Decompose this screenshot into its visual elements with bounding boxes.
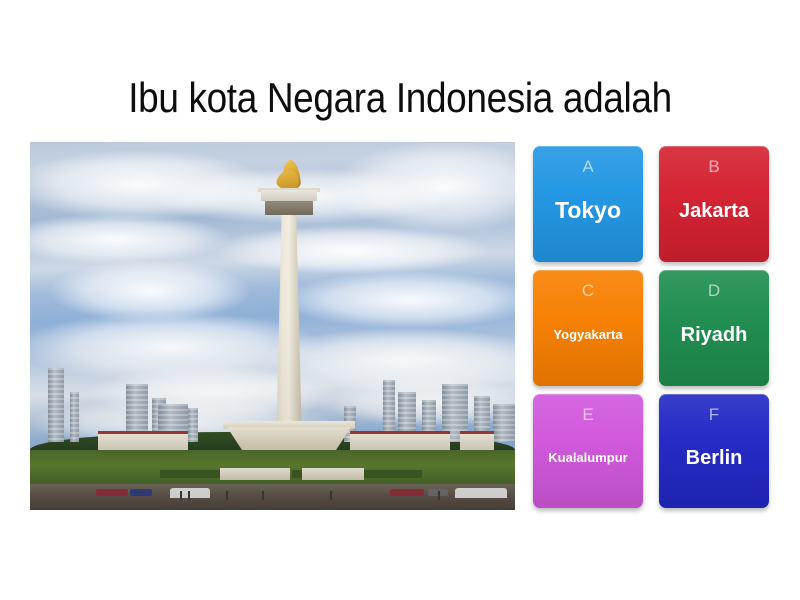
page-title: Ibu kota Negara Indonesia adalah <box>48 72 752 124</box>
pedestrian <box>188 491 190 500</box>
answer-card-d[interactable]: D Riyadh <box>659 270 769 386</box>
answer-text-c: Yogyakarta <box>548 300 627 370</box>
answer-text-e: Kualalumpur <box>543 424 632 492</box>
white-tent <box>455 488 507 498</box>
answer-text-b: Jakarta <box>674 176 754 246</box>
parked-vehicle <box>390 489 424 496</box>
answer-card-a[interactable]: A Tokyo <box>533 146 643 262</box>
pedestrian <box>438 491 440 500</box>
answer-letter-f: F <box>709 406 719 424</box>
answer-card-f[interactable]: F Berlin <box>659 394 769 508</box>
pedestrian <box>226 491 228 500</box>
answer-text-d: Riyadh <box>676 300 753 370</box>
quiz-slide: Ibu kota Negara Indonesia adalah <box>0 0 800 600</box>
pavilion <box>350 431 450 452</box>
white-tent <box>170 488 210 498</box>
skyline-building <box>70 392 79 442</box>
skyline-building <box>48 368 64 442</box>
pavilion <box>460 431 494 452</box>
answer-letter-b: B <box>708 158 719 176</box>
answer-card-e[interactable]: E Kualalumpur <box>533 394 643 508</box>
skyline-building <box>188 408 198 442</box>
answer-letter-c: C <box>582 282 594 300</box>
pedestrian <box>180 491 182 500</box>
cloud-shape <box>210 226 490 274</box>
pavilion <box>98 431 188 452</box>
plaza-ground <box>30 484 515 510</box>
answer-letter-e: E <box>582 406 593 424</box>
pedestrian <box>330 491 332 500</box>
plaza-wall <box>302 468 364 480</box>
answer-options-grid: A Tokyo B Jakarta C Yogyakarta D Riyadh … <box>533 146 769 506</box>
answer-card-c[interactable]: C Yogyakarta <box>533 270 643 386</box>
plaza-wall <box>220 468 290 480</box>
answer-letter-a: A <box>582 158 593 176</box>
pedestrian <box>262 491 264 500</box>
monas-cap <box>261 190 317 201</box>
parked-vehicle <box>130 489 152 496</box>
question-image <box>30 142 515 510</box>
answer-letter-d: D <box>708 282 720 300</box>
parked-vehicle <box>96 489 128 496</box>
skyline-building <box>493 404 515 442</box>
monas-cap-shadow <box>265 201 313 215</box>
answer-text-f: Berlin <box>681 424 748 492</box>
answer-card-b[interactable]: B Jakarta <box>659 146 769 262</box>
answer-text-a: Tokyo <box>550 176 626 246</box>
